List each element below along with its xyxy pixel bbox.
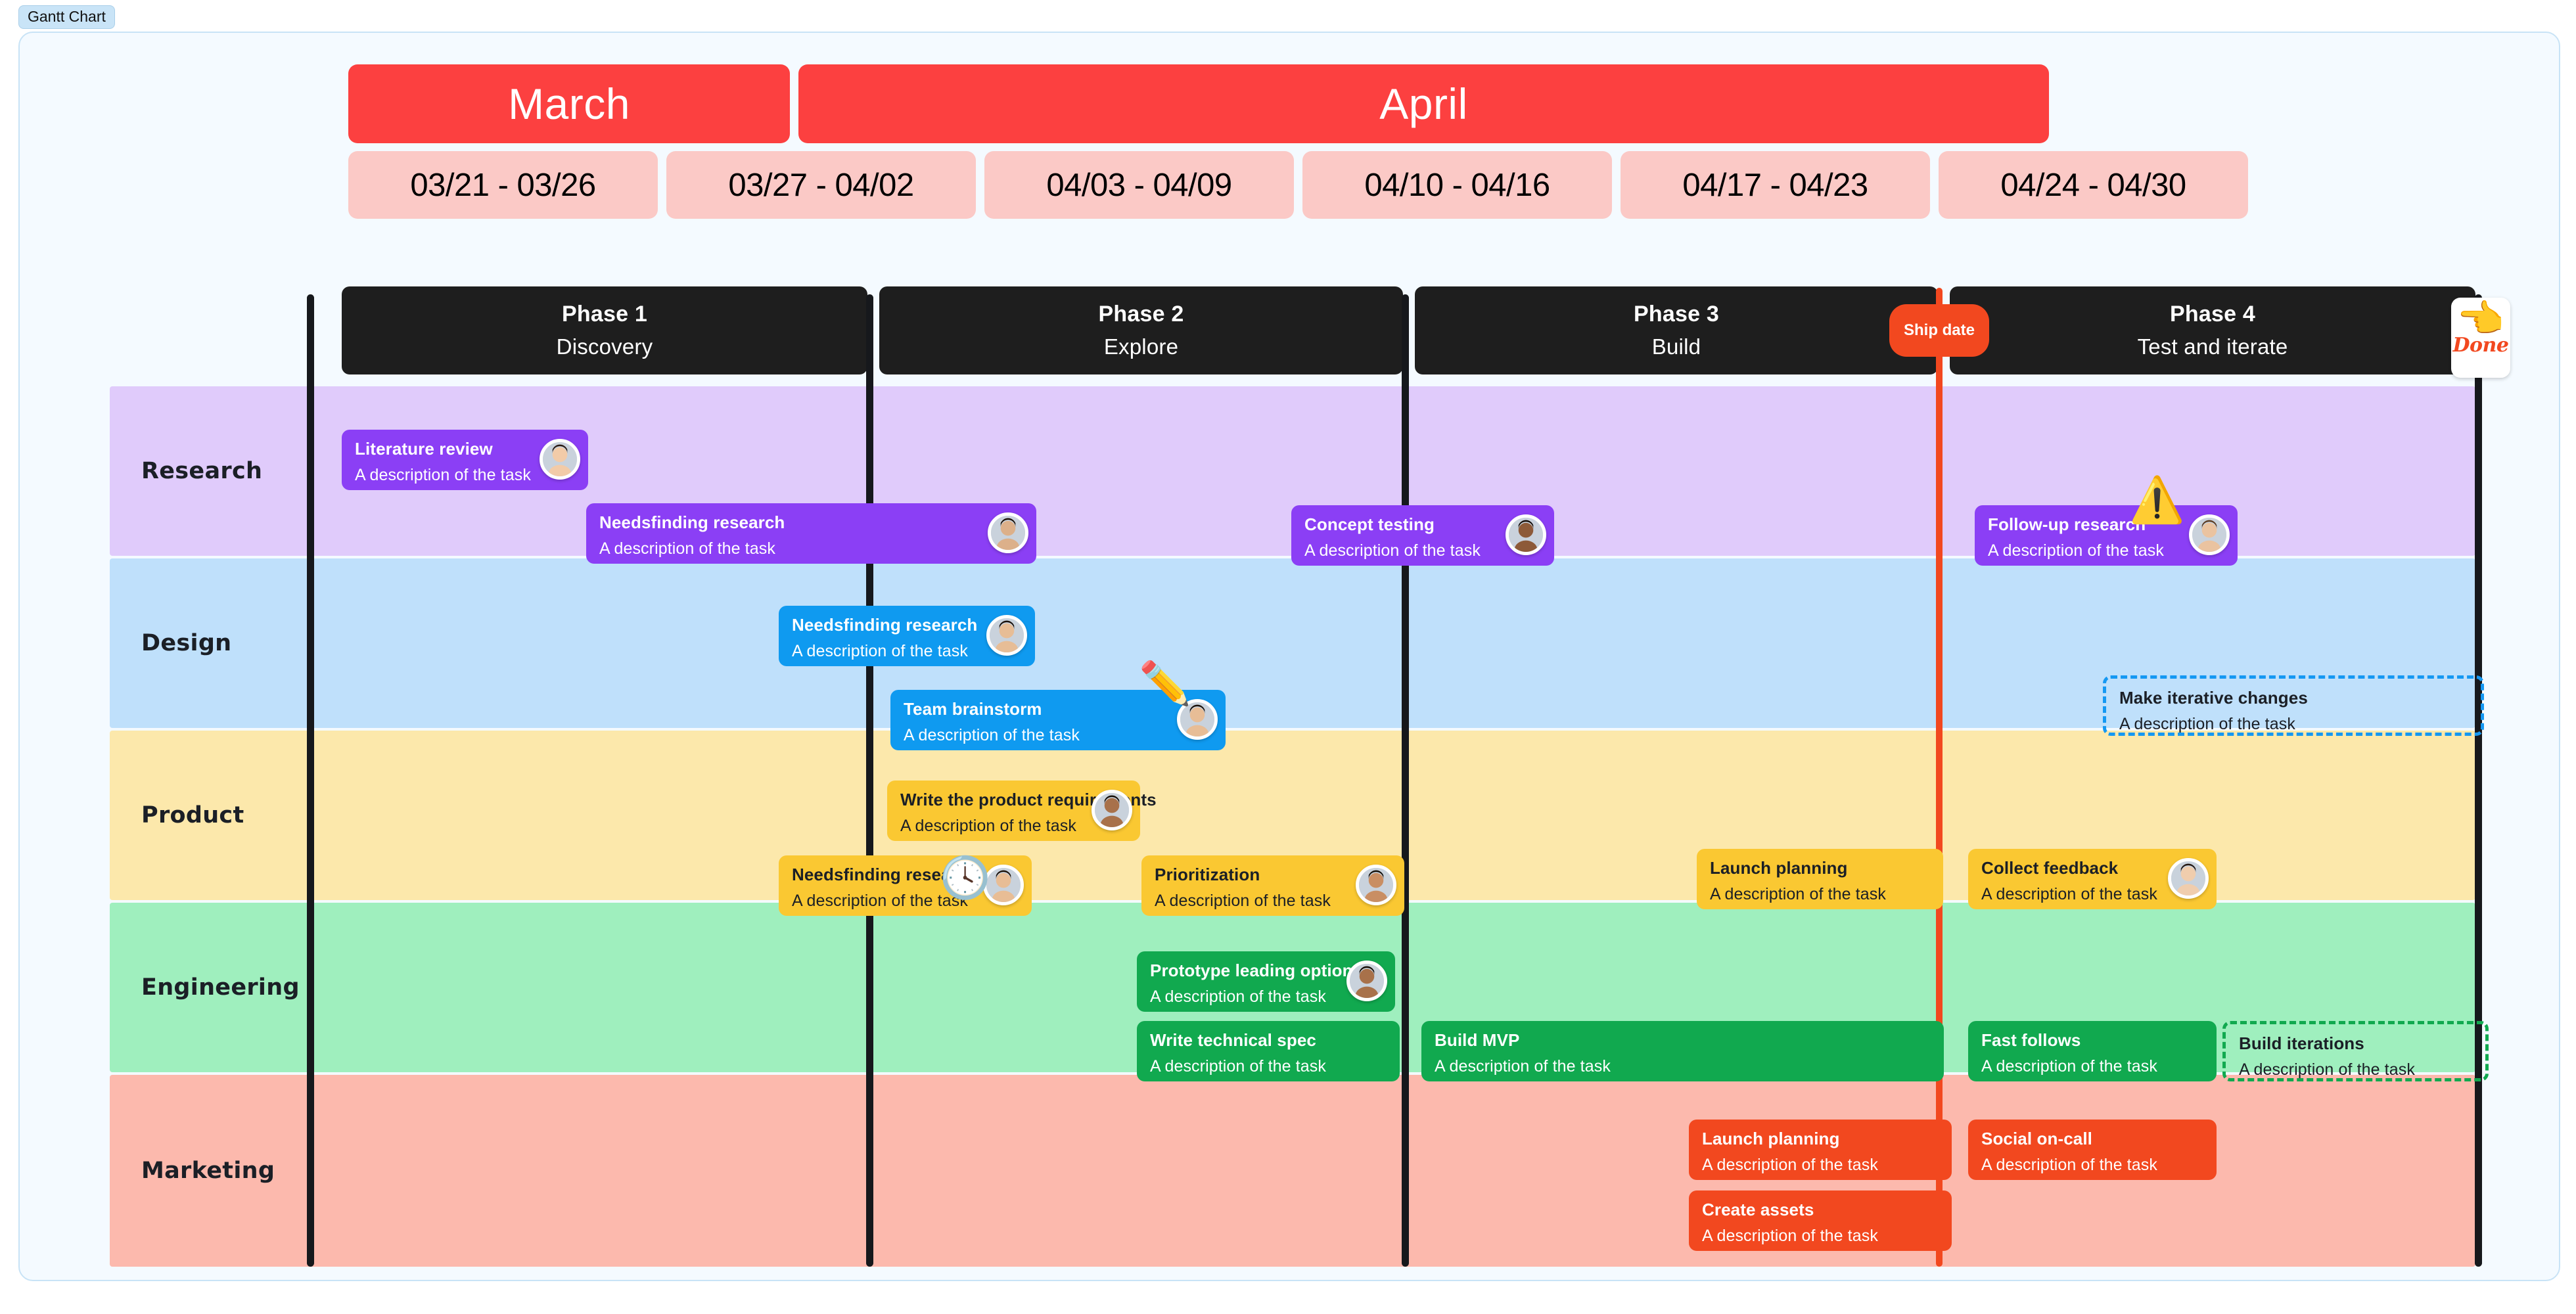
task-card[interactable]: Team brainstormA description of the task… (890, 690, 1226, 750)
swimlane-label: Product (141, 802, 244, 828)
assignee-avatar[interactable] (540, 439, 580, 480)
task-description: A description of the task (1150, 988, 1382, 1005)
task-title: Write technical spec (1150, 1031, 1387, 1049)
phase-divider-line (307, 294, 314, 1267)
phase-divider-line (2475, 294, 2482, 1267)
assignee-avatar[interactable] (2168, 858, 2209, 899)
task-card[interactable]: Collect feedbackA description of the tas… (1968, 849, 2217, 909)
phase-name: Build (1652, 334, 1701, 359)
task-description: A description of the task (1702, 1227, 1939, 1244)
task-card[interactable]: Launch planningA description of the task (1697, 849, 1943, 909)
task-description: A description of the task (599, 540, 1023, 557)
pencil-icon: ✏️ (1139, 662, 1191, 704)
phase-number: Phase 4 (2170, 302, 2255, 327)
task-card[interactable]: Needsfinding researchA description of th… (779, 855, 1032, 916)
phase-number: Phase 1 (562, 302, 647, 327)
assignee-avatar[interactable] (1506, 514, 1546, 555)
task-card[interactable]: PrioritizationA description of the task (1141, 855, 1404, 916)
phase-name: Discovery (557, 334, 653, 359)
ship-date-badge[interactable]: Ship date (1889, 304, 1989, 357)
phase-header-3[interactable]: Phase 3Build (1415, 286, 1938, 374)
phase-name: Explore (1104, 334, 1178, 359)
gantt-chart-tab[interactable]: Gantt Chart (18, 5, 115, 29)
gantt-chart-canvas: MarchApril 03/21 - 03/2603/27 - 04/0204/… (18, 32, 2560, 1281)
task-description: A description of the task (1981, 1156, 2203, 1173)
task-card[interactable]: Concept testingA description of the task (1291, 505, 1554, 566)
task-description: A description of the task (2119, 715, 2468, 733)
phase-divider-line (1402, 294, 1409, 1267)
assignee-avatar[interactable] (2189, 514, 2230, 555)
task-card[interactable]: Make iterative changesA description of t… (2103, 675, 2484, 736)
task-description: A description of the task (1304, 542, 1541, 559)
pointing-hand-icon: 👈 (2457, 302, 2504, 336)
phase-divider-line (866, 294, 873, 1267)
task-card[interactable]: Build MVPA description of the task (1421, 1021, 1944, 1081)
phase-number: Phase 3 (1634, 302, 1719, 327)
task-card[interactable]: Fast followsA description of the task (1968, 1021, 2217, 1081)
swimlane-label: Engineering (141, 974, 300, 1001)
task-card[interactable]: Social on-callA description of the task (1968, 1120, 2217, 1180)
assignee-avatar[interactable] (1092, 790, 1132, 830)
phase-number: Phase 2 (1099, 302, 1184, 327)
phase-name: Test and iterate (2138, 334, 2288, 359)
task-description: A description of the task (1435, 1058, 1931, 1075)
task-description: A description of the task (1150, 1058, 1387, 1075)
done-label: Done (2453, 334, 2509, 357)
phase-header-4[interactable]: Phase 4Test and iterate (1950, 286, 2475, 374)
task-title: Fast follows (1981, 1031, 2203, 1049)
task-description: A description of the task (900, 817, 1127, 834)
task-title: Build MVP (1435, 1031, 1931, 1049)
task-title: Launch planning (1710, 859, 1930, 877)
gantt-grid: ResearchDesignProductEngineeringMarketin… (20, 33, 2562, 1282)
task-card[interactable]: Build iterationsA description of the tas… (2222, 1021, 2489, 1081)
assignee-avatar[interactable] (988, 512, 1028, 553)
task-card[interactable]: Write technical specA description of the… (1137, 1021, 1400, 1081)
swimlane-label: Design (141, 630, 231, 656)
task-title: Social on-call (1981, 1130, 2203, 1148)
task-description: A description of the task (1702, 1156, 1939, 1173)
task-description: A description of the task (2239, 1061, 2472, 1078)
swimlane-label: Marketing (141, 1158, 275, 1184)
task-description: A description of the task (1988, 542, 2224, 559)
clock-icon: 🕓 (940, 858, 990, 899)
task-card[interactable]: Write the product requirementsA descript… (887, 781, 1140, 841)
task-card[interactable]: Follow-up researchA description of the t… (1975, 505, 2238, 566)
task-title: Needsfinding research (599, 514, 1023, 532)
task-card[interactable]: Launch planningA description of the task (1689, 1120, 1952, 1180)
phase-header-2[interactable]: Phase 2Explore (879, 286, 1403, 374)
task-description: A description of the task (792, 643, 1022, 660)
phase-header-1[interactable]: Phase 1Discovery (342, 286, 867, 374)
task-title: Create assets (1702, 1201, 1939, 1219)
task-description: A description of the task (1155, 892, 1391, 909)
task-card[interactable]: Create assetsA description of the task (1689, 1190, 1952, 1251)
swimlane-label: Research (141, 458, 262, 484)
task-title: Build iterations (2239, 1035, 2472, 1053)
assignee-avatar[interactable] (986, 615, 1027, 656)
task-card[interactable]: Needsfinding researchA description of th… (586, 503, 1036, 564)
task-card[interactable]: Literature reviewA description of the ta… (342, 430, 588, 490)
task-title: Launch planning (1702, 1130, 1939, 1148)
assignee-avatar[interactable] (1346, 961, 1387, 1001)
assignee-avatar[interactable] (1356, 865, 1396, 905)
done-sticker[interactable]: 👈Done (2451, 298, 2510, 378)
task-title: Make iterative changes (2119, 689, 2468, 707)
task-description: A description of the task (904, 727, 1212, 744)
task-card[interactable]: Needsfinding researchA description of th… (779, 606, 1035, 666)
task-description: A description of the task (1981, 1058, 2203, 1075)
task-card[interactable]: Prototype leading optionA description of… (1137, 951, 1395, 1012)
task-description: A description of the task (1710, 886, 1930, 903)
warning-icon: ⚠️ (2129, 478, 2185, 522)
